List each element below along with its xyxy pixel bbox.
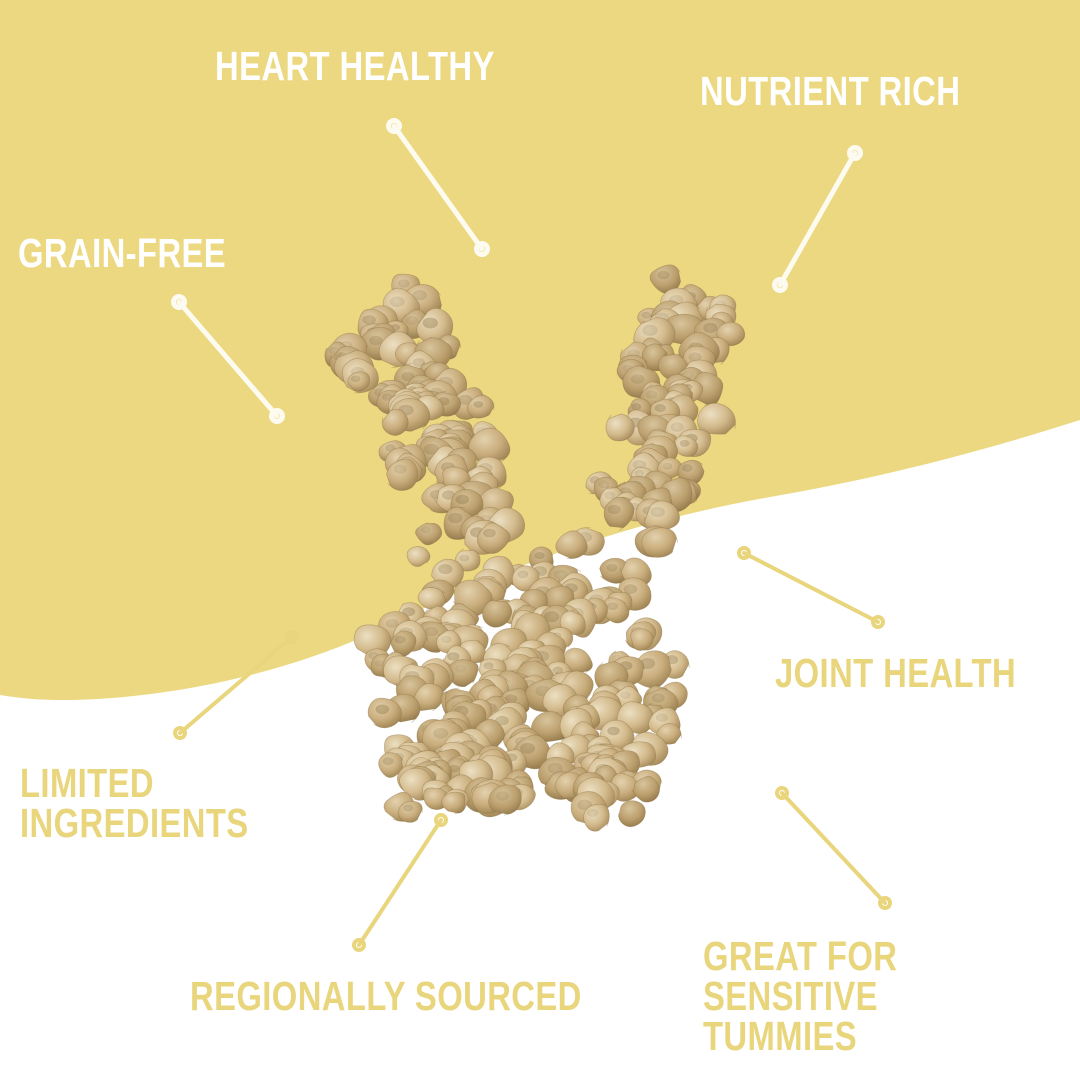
feature-label-grain-free: GRAIN-FREE xyxy=(18,233,226,273)
feature-label-joint-health: JOINT HEALTH xyxy=(775,653,1016,693)
feature-label-great-for-sensitive-tummies: GREAT FOR SENSITIVE TUMMIES xyxy=(703,936,1005,1057)
feature-label-regionally-sourced: REGIONALLY SOURCED xyxy=(190,976,582,1016)
feature-label-heart-healthy: HEART HEALTHY xyxy=(215,46,495,86)
label-layer: HEART HEALTHY NUTRIENT RICH GRAIN-FREE J… xyxy=(0,0,1080,1080)
feature-label-nutrient-rich: NUTRIENT RICH xyxy=(700,71,960,111)
feature-label-limited-ingredients: LIMITED INGREDIENTS xyxy=(20,763,249,843)
infographic-canvas: HEART HEALTHY NUTRIENT RICH GRAIN-FREE J… xyxy=(0,0,1080,1080)
